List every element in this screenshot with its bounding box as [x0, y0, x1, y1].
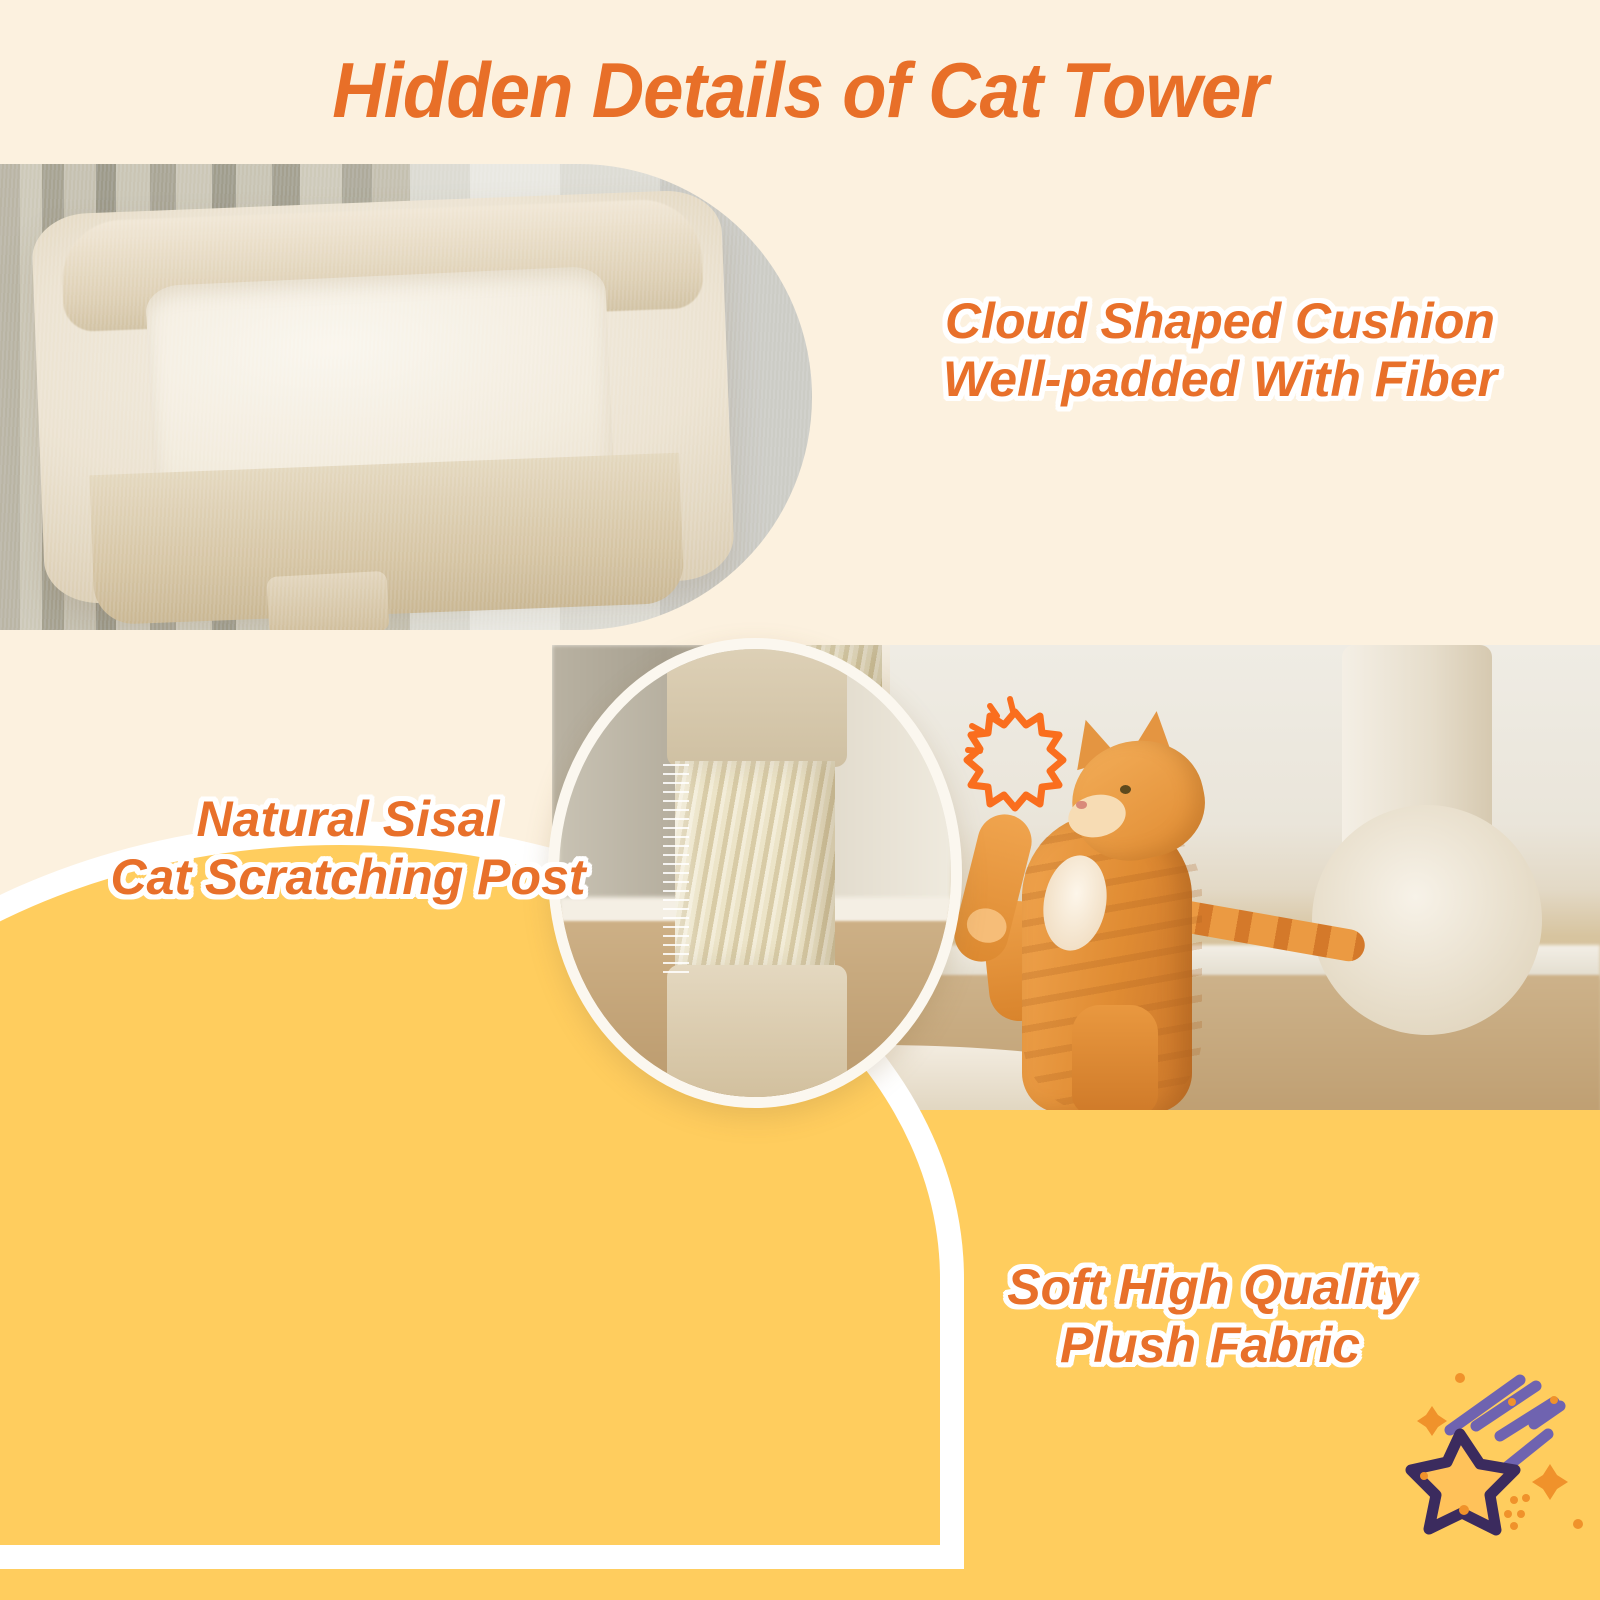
inset-sisal-rope	[675, 761, 835, 971]
feature-line-1: Natural Sisal	[197, 791, 500, 847]
cat-hind-leg	[1072, 1005, 1158, 1115]
feature-line-1: Cloud Shaped Cushion	[945, 293, 1495, 349]
inset-post-plush-lower	[667, 965, 847, 1097]
inset-post-plush-upper	[667, 649, 847, 767]
feature-label-plush-fabric: Soft High Quality Plush Fabric	[940, 1258, 1480, 1374]
page-title: Hidden Details of Cat Tower	[56, 46, 1544, 134]
feature-line-2: Plush Fabric	[940, 1316, 1480, 1374]
feature-label-cloud-cushion: Cloud Shaped Cushion Well-padded With Fi…	[880, 292, 1560, 408]
feature-line-2: Well-padded With Fiber	[880, 350, 1560, 408]
inset-sisal-frays	[663, 761, 689, 973]
tower-post-stub	[267, 571, 390, 630]
cat-tail	[1169, 898, 1368, 964]
cat-paw	[963, 904, 1010, 947]
photo-cloud-cushion	[0, 164, 812, 630]
feature-line-2: Cat Scratching Post	[48, 848, 648, 906]
cat-eye	[1120, 785, 1131, 794]
feature-line-1: Soft High Quality	[1007, 1259, 1413, 1315]
feature-label-sisal-post: Natural Sisal Cat Scratching Post	[48, 790, 648, 906]
burst-icon	[950, 686, 1080, 816]
infographic-canvas: Hidden Details of Cat Tower	[0, 0, 1600, 1600]
shooting-star-icon	[1388, 1368, 1598, 1568]
